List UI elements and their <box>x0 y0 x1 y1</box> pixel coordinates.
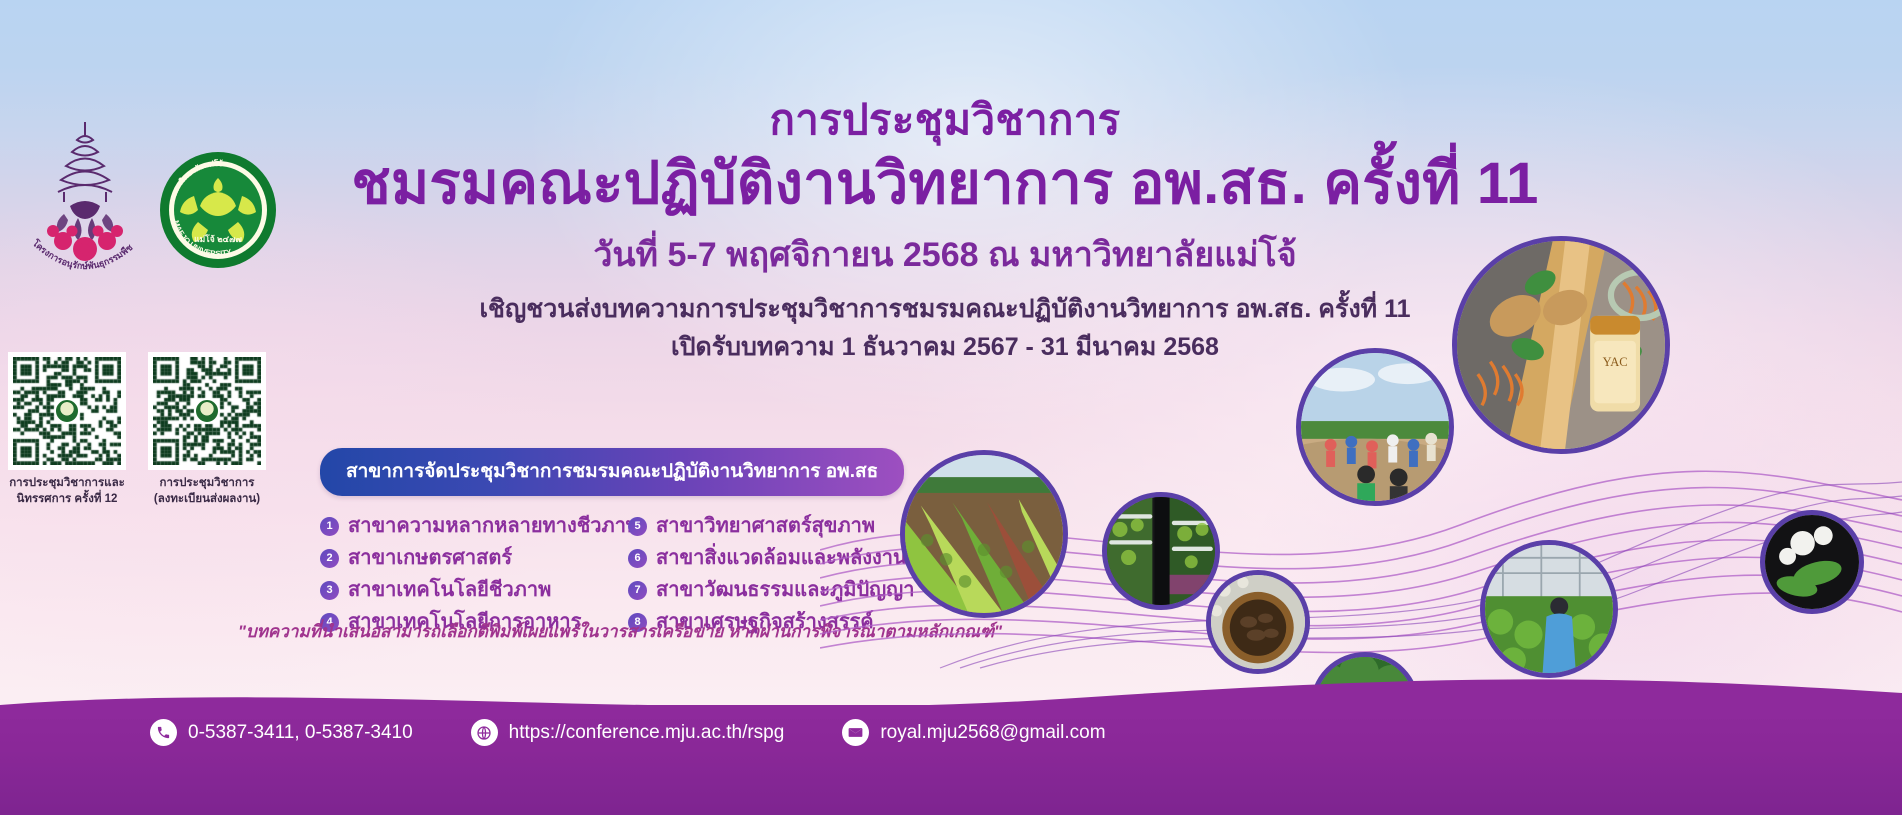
photo-collage: YAC <box>1060 220 1902 730</box>
topic-number-badge: 5 <box>628 517 647 536</box>
topic-item-3[interactable]: 3 สาขาเทคโนโลยีชีวภาพ <box>320 576 620 605</box>
topic-number-badge: 3 <box>320 581 339 600</box>
qr-caption-line1: การประชุมวิชาการ <box>148 476 266 492</box>
topic-number-badge: 2 <box>320 549 339 568</box>
qr-caption-1: การประชุมวิชาการและ นิทรรศการ ครั้งที่ 1… <box>8 476 126 507</box>
photo-hydroponic-lettuce-field <box>900 450 1068 618</box>
photo-mushroom-basket <box>1206 570 1310 674</box>
footer-email[interactable]: royal.mju2568@gmail.com <box>842 719 1105 746</box>
qr-code-image-1[interactable] <box>8 352 126 470</box>
globe-icon <box>471 719 498 746</box>
photo-white-flower-specimen <box>1760 510 1864 614</box>
svg-text:แม่โจ้ ๒๔๗๗: แม่โจ้ ๒๔๗๗ <box>194 234 242 244</box>
envelope-icon <box>842 719 869 746</box>
footer-phone[interactable]: 0-5387-3411, 0-5387-3410 <box>150 719 413 746</box>
footer-website-text: https://conference.mju.ac.th/rspg <box>509 722 785 744</box>
footer-contact-row: 0-5387-3411, 0-5387-3410 https://confere… <box>150 719 1106 746</box>
qr-caption-line2: นิทรรศการ ครั้งที่ 12 <box>8 492 126 508</box>
footer-email-text: royal.mju2568@gmail.com <box>880 722 1105 744</box>
topic-number-badge: 7 <box>628 581 647 600</box>
topic-item-1[interactable]: 1 สาขาความหลากหลายทางชีวภาพ <box>320 512 620 541</box>
qr-logo-badge <box>194 398 220 424</box>
qr-caption-2: การประชุมวิชาการ (ลงทะเบียนส่งผลงาน) <box>148 476 266 507</box>
conference-title-line1: การประชุมวิชาการ <box>290 95 1600 145</box>
qr-card-conference-registration[interactable]: การประชุมวิชาการ (ลงทะเบียนส่งผลงาน) <box>148 352 266 507</box>
qr-caption-line2: (ลงทะเบียนส่งผลงาน) <box>148 492 266 508</box>
footer-bar: 0-5387-3411, 0-5387-3410 https://confere… <box>0 705 1902 815</box>
photo-herbal-supplement-product: YAC <box>1452 236 1670 454</box>
topic-label: สาขาเทคโนโลยีชีวภาพ <box>348 576 551 605</box>
topic-item-2[interactable]: 2 สาขาเกษตรศาสตร์ <box>320 544 620 573</box>
topic-label: สาขาเกษตรศาสตร์ <box>348 544 512 573</box>
qr-logo-badge <box>54 398 80 424</box>
qr-card-conference-exhibition[interactable]: การประชุมวิชาการและ นิทรรศการ ครั้งที่ 1… <box>8 352 126 507</box>
logo-row: โครงการอนุรักษ์พันธุกรรมพืช มหาวิทยาลัยแ… <box>10 110 290 290</box>
photo-vertical-farm-greenhouse <box>1102 492 1220 610</box>
photo-community-field-activity <box>1296 348 1454 506</box>
photo-greenhouse-worker <box>1480 540 1618 678</box>
royal-project-logo: โครงการอนุรักษ์พันธุกรรมพืช <box>20 118 150 286</box>
svg-text:YAC: YAC <box>1603 355 1628 369</box>
topics-pill-heading: สาขาการจัดประชุมวิชาการชมรมคณะปฏิบัติงาน… <box>320 448 904 496</box>
topic-label: สาขาความหลากหลายทางชีวภาพ <box>348 512 639 541</box>
conference-title-line2: ชมรมคณะปฏิบัติงานวิทยาการ อพ.สธ. ครั้งที… <box>290 149 1600 220</box>
qr-caption-line1: การประชุมวิชาการและ <box>8 476 126 492</box>
qr-code-image-2[interactable] <box>148 352 266 470</box>
maejo-university-logo: มหาวิทยาลัยแม่โจ้ MAEJO UNIVERSITY แม่โจ… <box>158 150 278 270</box>
footer-wave-divider <box>0 679 1902 719</box>
footer-phone-text: 0-5387-3411, 0-5387-3410 <box>188 722 413 744</box>
topic-number-badge: 6 <box>628 549 647 568</box>
conference-banner: โครงการอนุรักษ์พันธุกรรมพืช มหาวิทยาลัยแ… <box>0 0 1902 815</box>
topic-number-badge: 1 <box>320 517 339 536</box>
qr-code-zone: การประชุมวิชาการและ นิทรรศการ ครั้งที่ 1… <box>8 352 288 507</box>
phone-icon <box>150 719 177 746</box>
footer-website[interactable]: https://conference.mju.ac.th/rspg <box>471 719 785 746</box>
